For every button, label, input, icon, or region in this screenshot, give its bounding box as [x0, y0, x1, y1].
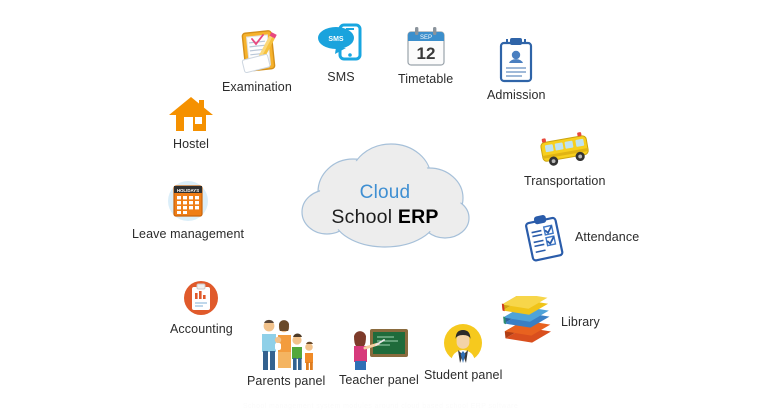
school-bus-icon	[536, 130, 594, 172]
node-teacher-panel[interactable]: Teacher panel	[339, 325, 419, 388]
node-sms[interactable]: SMS SMS	[316, 22, 366, 85]
node-transportation[interactable]: Transportation	[524, 130, 606, 189]
node-accounting-label: Accounting	[170, 323, 233, 337]
cloud-title-line1: Cloud	[295, 182, 475, 204]
svg-text:HOLIDAYS: HOLIDAYS	[177, 188, 199, 193]
node-admission[interactable]: Admission	[487, 36, 546, 103]
node-library[interactable]: Library	[498, 296, 600, 350]
cloud-title-school: School	[331, 206, 397, 228]
cloud-title-erp: ERP	[398, 206, 439, 228]
node-hostel-label: Hostel	[173, 138, 209, 152]
node-examination-label: Examination	[222, 81, 292, 95]
attendance-clipboard-icon	[520, 212, 570, 264]
exam-clipboard-pencil-icon	[231, 26, 283, 78]
node-student-panel[interactable]: Student panel	[424, 320, 502, 383]
svg-text:SEP: SEP	[420, 35, 432, 41]
node-leave-management[interactable]: HOLIDAYS Leave management	[132, 180, 244, 242]
node-accounting[interactable]: Accounting	[170, 280, 233, 337]
node-hostel[interactable]: Hostel	[168, 95, 214, 152]
admission-id-clipboard-icon	[494, 36, 538, 86]
student-avatar-icon	[440, 320, 486, 366]
node-parents-panel[interactable]: Parents panel	[247, 318, 325, 389]
node-attendance-label: Attendance	[575, 231, 639, 245]
node-sms-label: SMS	[327, 71, 354, 85]
node-transportation-label: Transportation	[524, 175, 606, 189]
node-teacher-panel-label: Teacher panel	[339, 374, 419, 388]
holidays-calendar-icon: HOLIDAYS	[163, 180, 213, 225]
sms-phone-bubble-icon: SMS	[316, 22, 366, 68]
node-attendance[interactable]: Attendance	[520, 212, 639, 264]
erp-diagram-canvas: Cloud School ERP	[0, 0, 761, 414]
node-timetable[interactable]: SEP 12 Timetable	[398, 24, 453, 87]
node-timetable-label: Timetable	[398, 73, 453, 87]
node-leave-management-label: Leave management	[132, 228, 244, 242]
node-admission-label: Admission	[487, 89, 546, 103]
node-examination[interactable]: Examination	[222, 26, 292, 95]
cloud-center-node: Cloud School ERP	[295, 140, 475, 255]
node-student-panel-label: Student panel	[424, 369, 502, 383]
bottom-caption: School management system modules around …	[0, 403, 761, 410]
teacher-chalkboard-icon	[348, 325, 410, 371]
house-icon	[168, 95, 214, 135]
book-stack-icon	[498, 296, 556, 350]
accounting-circle-icon	[181, 280, 221, 320]
node-parents-panel-label: Parents panel	[247, 375, 325, 389]
svg-text:SMS: SMS	[328, 36, 344, 43]
calendar-12-icon: SEP 12	[403, 24, 449, 70]
node-library-label: Library	[561, 316, 600, 330]
svg-text:12: 12	[416, 44, 435, 63]
cloud-title-line2: School ERP	[295, 206, 475, 229]
family-icon	[255, 318, 317, 372]
